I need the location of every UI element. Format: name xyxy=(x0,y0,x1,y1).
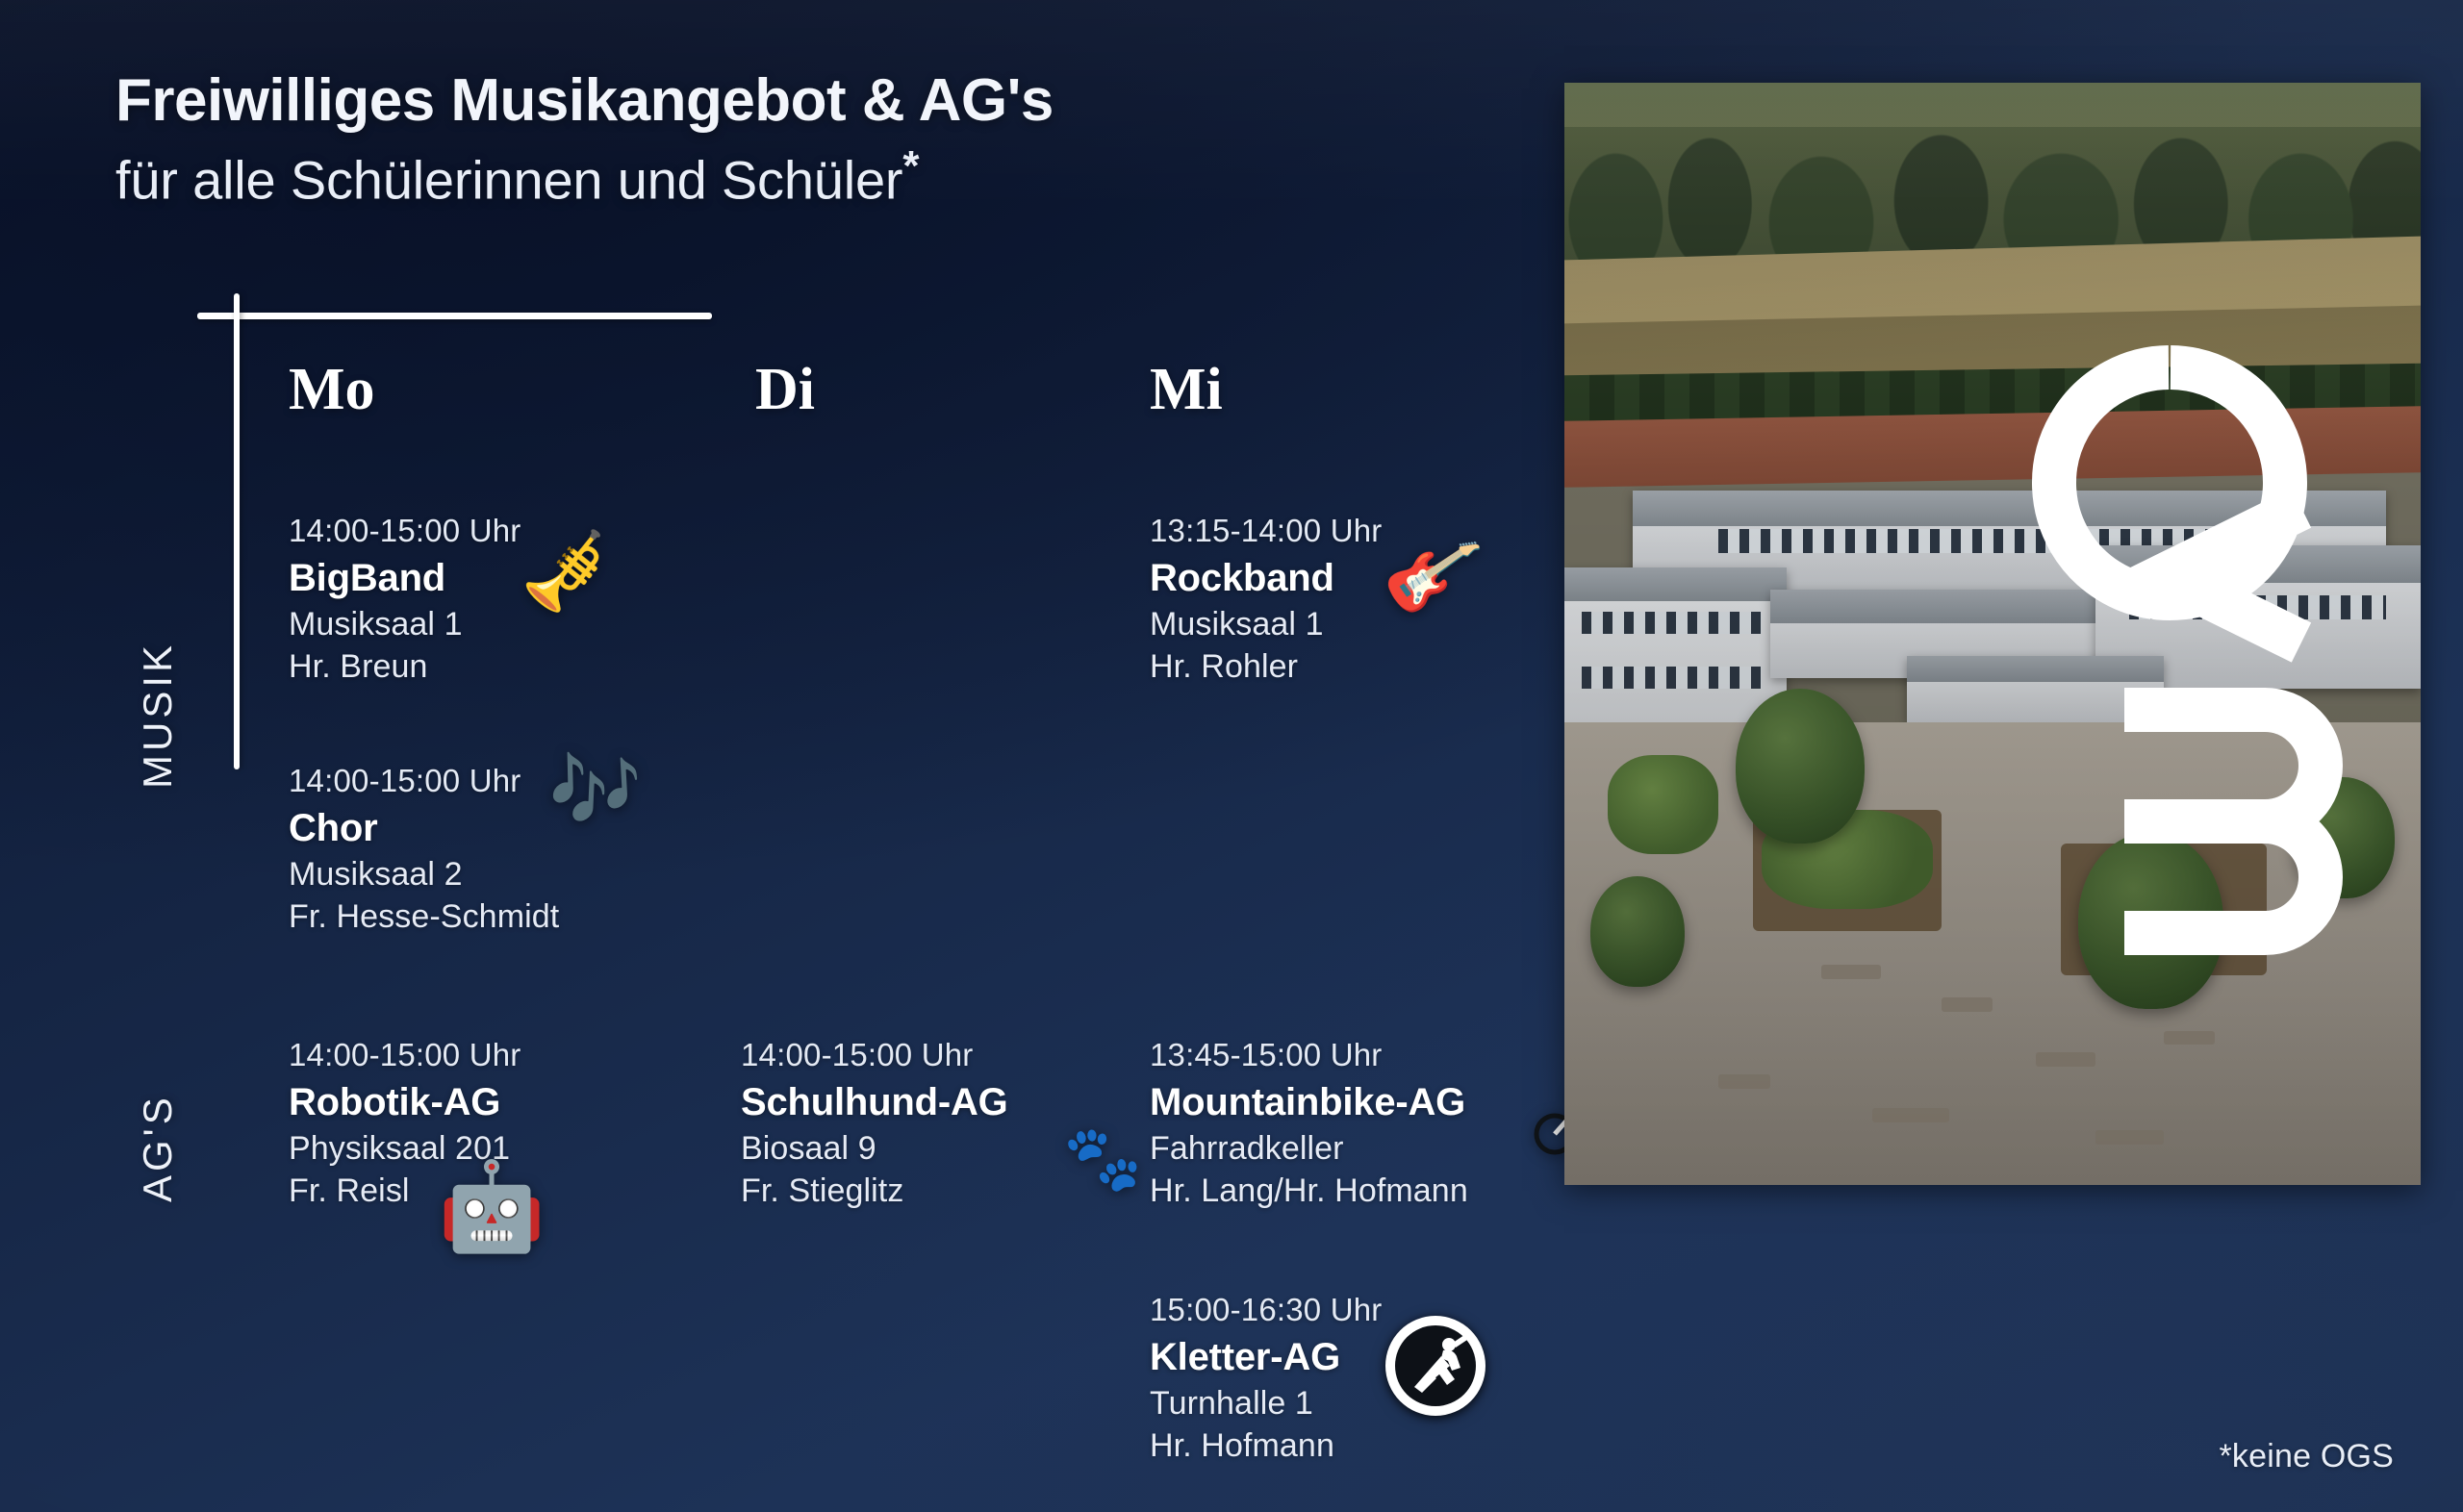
activity-name: Chor xyxy=(289,803,559,853)
activity-card-rockband[interactable]: 13:15-14:00 Uhr Rockband Musiksaal 1 Hr.… xyxy=(1150,510,1383,688)
activity-teacher: Hr. Breun xyxy=(289,645,521,688)
group-label-musik: MUSIK xyxy=(135,642,181,789)
activity-teacher: Hr. Hofmann xyxy=(1150,1424,1383,1467)
activity-room: Musiksaal 1 xyxy=(1150,603,1383,645)
robot-icon: 🤖 xyxy=(438,1164,546,1250)
footnote: *keine OGS xyxy=(2219,1438,2394,1475)
paw-print-icon: 🐾 xyxy=(1063,1126,1142,1190)
activity-name: Schulhund-AG xyxy=(741,1077,1008,1127)
activity-card-bigband[interactable]: 14:00-15:00 Uhr BigBand Musiksaal 1 Hr. … xyxy=(289,510,521,688)
activity-teacher: Fr. Hesse-Schmidt xyxy=(289,895,559,938)
electric-guitar-icon: 🎸 xyxy=(1379,528,1485,620)
table-axis-vertical-rule xyxy=(234,293,240,769)
activity-room: Musiksaal 2 xyxy=(289,853,559,895)
page-subtitle: für alle Schülerinnen und Schüler* xyxy=(115,141,1054,213)
activity-room: Fahrradkeller xyxy=(1150,1127,1468,1170)
activity-name: Rockband xyxy=(1150,553,1383,603)
trumpet-icon: 🎺 xyxy=(515,531,615,616)
day-header-mi: Mi xyxy=(1150,356,1223,424)
activity-name: Kletter-AG xyxy=(1150,1332,1383,1382)
headline-block: Freiwilliges Musikangebot & AG's für all… xyxy=(115,67,1054,213)
poster-canvas: Freiwilliges Musikangebot & AG's für all… xyxy=(0,0,2463,1512)
school-aerial-photo-art xyxy=(1564,83,2421,1185)
music-notes-icon: 🎶 xyxy=(548,752,642,827)
day-header-di: Di xyxy=(755,356,815,424)
activity-time: 14:00-15:00 Uhr xyxy=(289,1034,521,1077)
activity-name: Robotik-AG xyxy=(289,1077,521,1127)
page-subtitle-text: für alle Schülerinnen und Schüler xyxy=(115,150,902,211)
activity-room: Biosaal 9 xyxy=(741,1127,1008,1170)
activity-time: 14:00-15:00 Uhr xyxy=(289,510,521,553)
page-title: Freiwilliges Musikangebot & AG's xyxy=(115,67,1054,134)
group-label-ags: AG'S xyxy=(135,1094,181,1202)
table-axis-horizontal-rule xyxy=(197,313,712,319)
subtitle-footnote-marker: * xyxy=(902,142,919,189)
climber-icon-badge xyxy=(1385,1316,1485,1416)
activity-time: 15:00-16:30 Uhr xyxy=(1150,1289,1383,1332)
activity-room: Turnhalle 1 xyxy=(1150,1382,1383,1424)
activity-card-schulhund[interactable]: 14:00-15:00 Uhr Schulhund-AG Biosaal 9 F… xyxy=(741,1034,1008,1212)
activity-name: Mountainbike-AG xyxy=(1150,1077,1468,1127)
activity-time: 14:00-15:00 Uhr xyxy=(289,760,559,803)
day-header-mo: Mo xyxy=(289,356,375,424)
activity-card-mountainbike[interactable]: 13:45-15:00 Uhr Mountainbike-AG Fahrradk… xyxy=(1150,1034,1468,1212)
activity-name: BigBand xyxy=(289,553,521,603)
activity-room: Musiksaal 1 xyxy=(289,603,521,645)
activity-time: 13:15-14:00 Uhr xyxy=(1150,510,1383,553)
activity-teacher: Hr. Rohler xyxy=(1150,645,1383,688)
activity-time: 13:45-15:00 Uhr xyxy=(1150,1034,1468,1077)
climber-icon xyxy=(1385,1316,1485,1416)
activity-teacher: Fr. Stieglitz xyxy=(741,1170,1008,1212)
activity-card-kletter[interactable]: 15:00-16:30 Uhr Kletter-AG Turnhalle 1 H… xyxy=(1150,1289,1383,1467)
activity-card-chor[interactable]: 14:00-15:00 Uhr Chor Musiksaal 2 Fr. Hes… xyxy=(289,760,559,938)
activity-time: 14:00-15:00 Uhr xyxy=(741,1034,1008,1077)
activity-card-robotik[interactable]: 14:00-15:00 Uhr Robotik-AG Physiksaal 20… xyxy=(289,1034,521,1212)
school-aerial-photo xyxy=(1564,83,2421,1185)
activity-teacher: Hr. Lang/Hr. Hofmann xyxy=(1150,1170,1468,1212)
